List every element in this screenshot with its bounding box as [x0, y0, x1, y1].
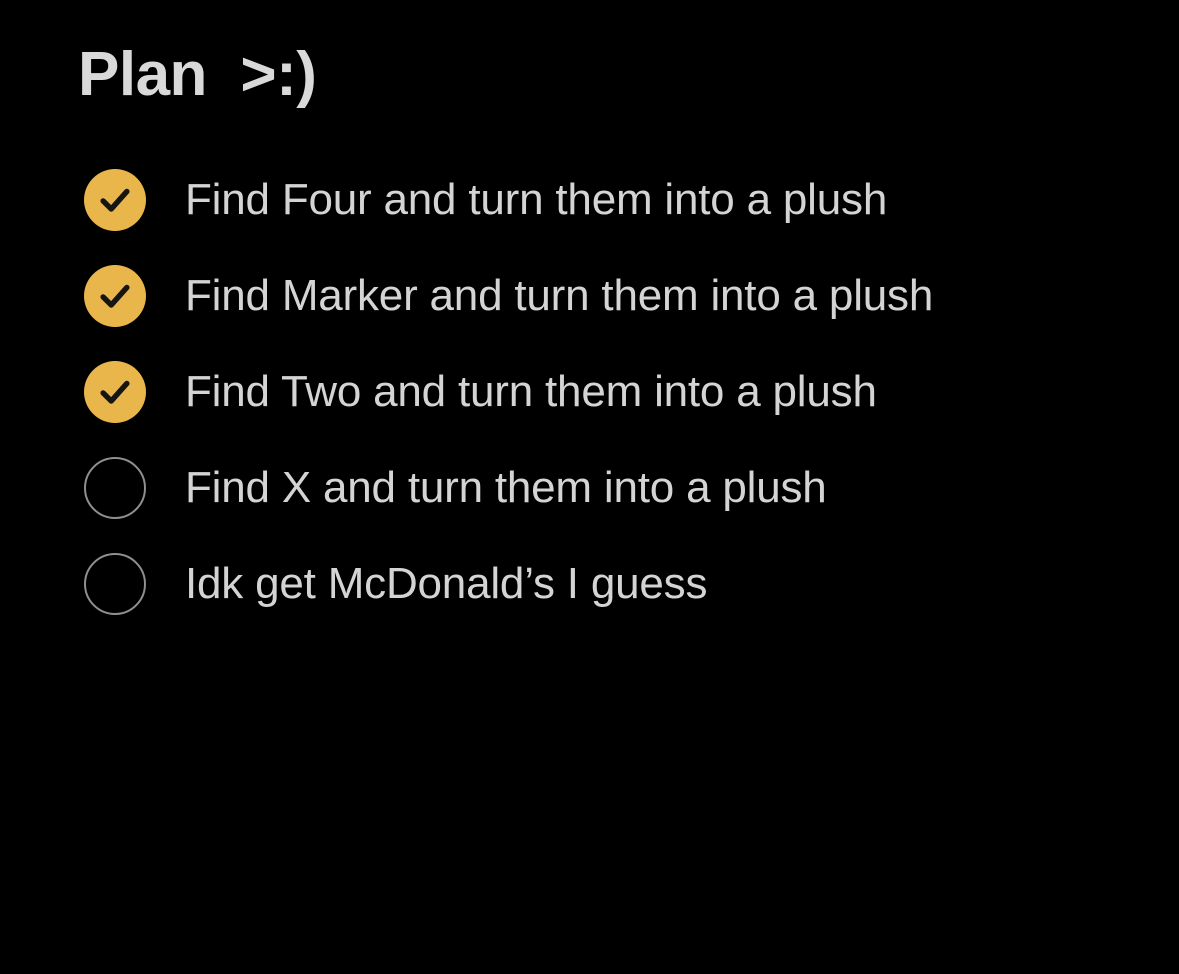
checklist-item-label: Find Four and turn them into a plush — [185, 178, 887, 222]
checkbox-checked-icon[interactable] — [84, 361, 146, 423]
checkbox-unchecked-icon[interactable] — [84, 553, 146, 615]
checklist-item[interactable]: Find Two and turn them into a plush — [0, 344, 1179, 440]
checklist-item[interactable]: Find Marker and turn them into a plush — [0, 248, 1179, 344]
checklist-item-label: Find X and turn them into a plush — [185, 466, 827, 510]
checklist-item-label: Find Marker and turn them into a plush — [185, 274, 933, 318]
checkbox-checked-icon[interactable] — [84, 169, 146, 231]
checkmark-icon — [96, 373, 134, 411]
checklist-item[interactable]: Find Four and turn them into a plush — [0, 152, 1179, 248]
page-title: Plan >:) — [78, 42, 316, 107]
checkbox-checked-icon[interactable] — [84, 265, 146, 327]
checkmark-icon — [96, 181, 134, 219]
app-screen: Plan >:) Find Four and turn them into a … — [0, 0, 1179, 974]
checklist-item[interactable]: Find X and turn them into a plush — [0, 440, 1179, 536]
checklist-item[interactable]: Idk get McDonald’s I guess — [0, 536, 1179, 632]
checklist-item-label: Idk get McDonald’s I guess — [185, 562, 707, 606]
checkbox-unchecked-icon[interactable] — [84, 457, 146, 519]
checklist-item-label: Find Two and turn them into a plush — [185, 370, 877, 414]
checkmark-icon — [96, 277, 134, 315]
checklist: Find Four and turn them into a plushFind… — [0, 152, 1179, 632]
